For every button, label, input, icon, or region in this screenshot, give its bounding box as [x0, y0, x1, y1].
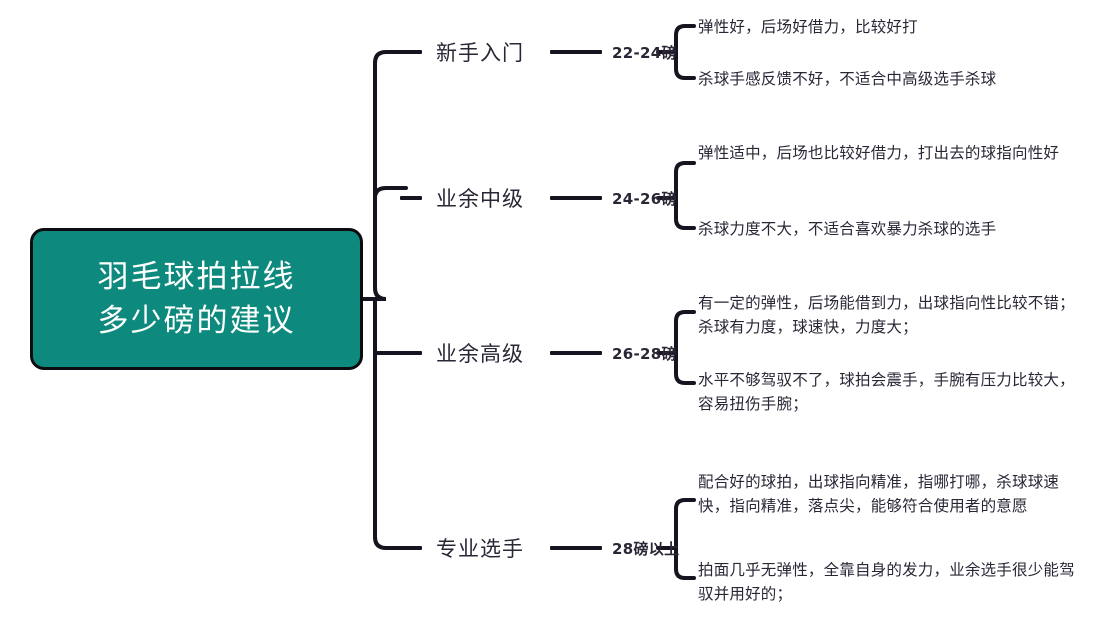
center-node-line-1: 羽毛球拍拉线	[98, 255, 296, 299]
branch-connector-icon	[550, 50, 602, 54]
detail-beginner-1: 弹性好，后场好借力，比较好打	[698, 15, 1080, 39]
branch-weight-professional: 28磅以上	[612, 538, 679, 559]
branch-connector-icon	[550, 546, 602, 550]
branch-weight-amateur-advanced: 26-28磅	[612, 343, 677, 364]
branch-label-amateur-intermediate: 业余中级	[436, 183, 524, 213]
main-trunk-bracket	[375, 52, 406, 548]
branch-row-amateur-intermediate[interactable]: 业余中级 24-26磅	[400, 181, 677, 215]
sub-bracket-1	[676, 26, 694, 78]
branch-row-beginner[interactable]: 新手入门 22-24磅	[400, 35, 677, 69]
detail-professional-1: 配合好的球拍，出球指向精准，指哪打哪，杀球球速快，指向精准，落点尖，能够符合使用…	[698, 470, 1080, 519]
detail-professional-2: 拍面几乎无弹性，全靠自身的发力，业余选手很少能驾驭并用好的；	[698, 558, 1080, 607]
detail-amateur-intermediate-2: 杀球力度不大，不适合喜欢暴力杀球的选手	[698, 217, 1080, 241]
center-node-line-2: 多少磅的建议	[98, 299, 296, 343]
branch-connector-icon	[550, 196, 602, 200]
detail-amateur-advanced-1: 有一定的弹性，后场能借到力，出球指向性比较不错；杀球有力度，球速快，力度大；	[698, 291, 1080, 340]
branch-label-beginner: 新手入门	[436, 37, 524, 67]
detail-beginner-2: 杀球手感反馈不好，不适合中高级选手杀球	[698, 67, 1080, 91]
branch-row-amateur-advanced[interactable]: 业余高级 26-28磅	[400, 336, 677, 370]
branch-row-professional[interactable]: 专业选手 28磅以上	[400, 531, 679, 565]
sub-bracket-3	[676, 312, 694, 383]
branch-dash-icon	[400, 351, 422, 355]
branch-label-amateur-advanced: 业余高级	[436, 338, 524, 368]
branch-dash-icon	[400, 50, 422, 54]
branch-weight-beginner: 22-24磅	[612, 42, 677, 63]
branch-dash-icon	[400, 196, 422, 200]
detail-amateur-intermediate-1: 弹性适中，后场也比较好借力，打出去的球指向性好	[698, 141, 1080, 165]
branch-dash-icon	[400, 546, 422, 550]
branch-label-professional: 专业选手	[436, 533, 524, 563]
sub-bracket-2	[676, 163, 694, 228]
detail-amateur-advanced-2: 水平不够驾驭不了，球拍会震手，手腕有压力比较大，容易扭伤手腕；	[698, 368, 1080, 417]
center-node[interactable]: 羽毛球拍拉线 多少磅的建议	[30, 228, 363, 370]
branch-connector-icon	[550, 351, 602, 355]
branch-weight-amateur-intermediate: 24-26磅	[612, 188, 677, 209]
mindmap-canvas: 羽毛球拍拉线 多少磅的建议 新手入门 22-24磅 弹性好，后场好借力，比较好打…	[0, 0, 1108, 624]
